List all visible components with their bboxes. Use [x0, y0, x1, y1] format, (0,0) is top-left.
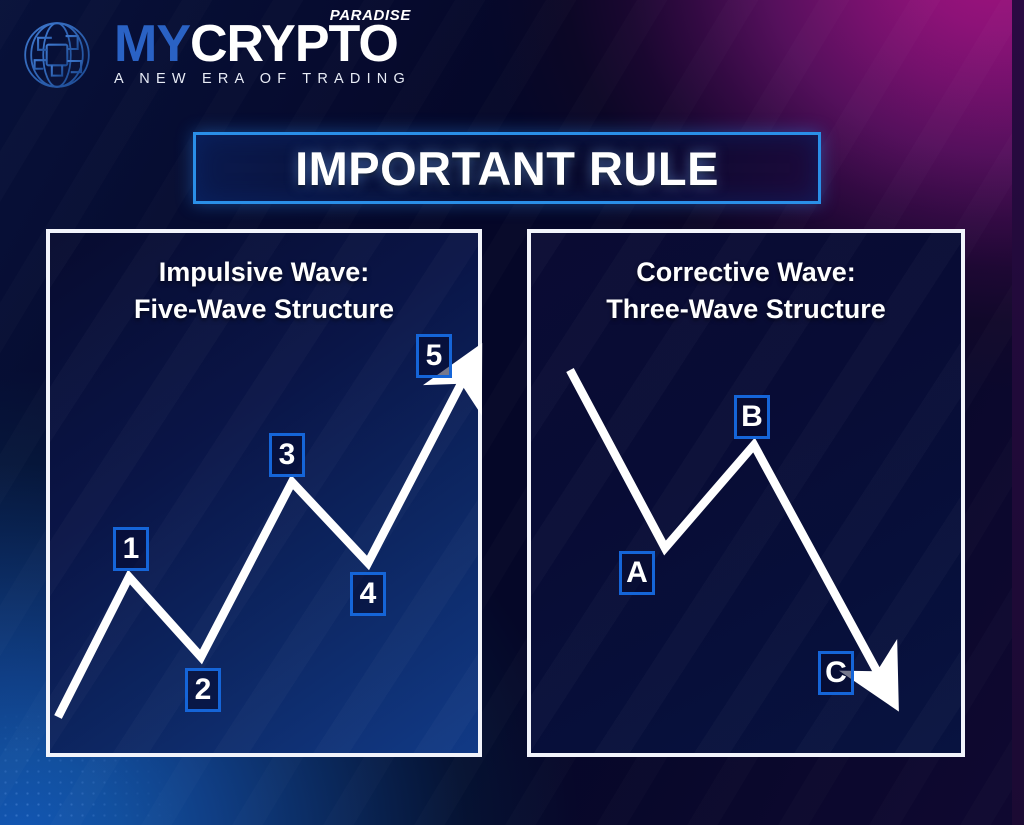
wave-label-5: 5: [416, 334, 452, 378]
wave-label-a: A: [619, 551, 655, 595]
wave-label-4: 4: [350, 572, 386, 616]
wave-diagrams: [0, 0, 1024, 825]
wave-label-2: 2: [185, 668, 221, 712]
wave-label-1: 1: [113, 527, 149, 571]
corrective-wave-line: [570, 370, 879, 675]
wave-label-b: B: [734, 395, 770, 439]
wave-label-c: C: [818, 651, 854, 695]
slide-canvas: MY CRYPTO PARADISE A NEW ERA OF TRADING …: [0, 0, 1024, 825]
wave-label-3: 3: [269, 433, 305, 477]
